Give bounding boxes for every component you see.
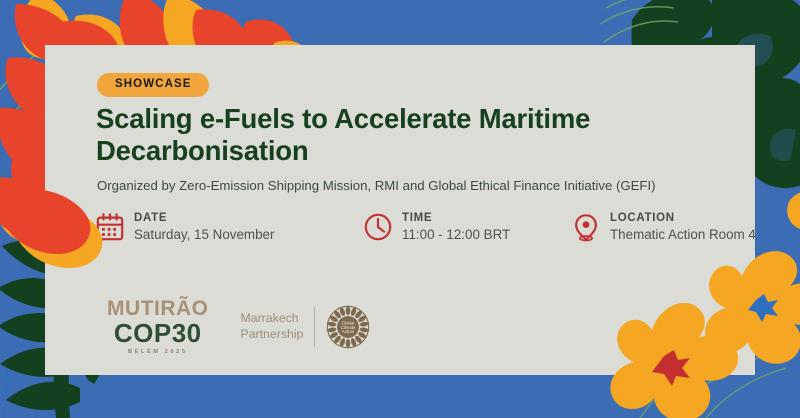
clock-icon bbox=[363, 211, 393, 243]
cop30-belem-text: BELÉM 2025 bbox=[107, 350, 209, 356]
event-details-row: DATE Saturday, 15 November TIME 11:00 - … bbox=[95, 209, 745, 259]
marrakech-line-1: Marrakech bbox=[241, 311, 304, 326]
seal-line-3: Action bbox=[342, 329, 355, 334]
global-climate-action-seal: Global Climate Action bbox=[326, 305, 370, 349]
detail-label-location: LOCATION bbox=[610, 211, 756, 225]
detail-location: LOCATION Thematic Action Room 4 bbox=[571, 209, 756, 244]
detail-value-location: Thematic Action Room 4 bbox=[610, 226, 756, 244]
title-line-2: Decarbonisation bbox=[96, 135, 726, 167]
detail-value-time: 11:00 - 12:00 BRT bbox=[402, 226, 510, 244]
marrakech-line-2: Partnership bbox=[241, 327, 304, 342]
detail-date: DATE Saturday, 15 November bbox=[95, 209, 274, 244]
title-line-1: Scaling e-Fuels to Accelerate Maritime bbox=[96, 103, 726, 135]
marrakech-partnership-logo: Marrakech Partnership bbox=[227, 305, 371, 349]
calendar-icon bbox=[95, 211, 125, 243]
detail-label-time: TIME bbox=[402, 211, 510, 225]
logo-divider bbox=[314, 307, 315, 347]
page-title: Scaling e-Fuels to Accelerate Maritime D… bbox=[96, 103, 726, 167]
flower-edge-right bbox=[787, 190, 800, 230]
logo-strip: MUTIRÃO COP30 BELÉM 2025 Marrakech Partn… bbox=[107, 298, 370, 356]
location-pin-icon bbox=[571, 211, 601, 243]
cop30-text: COP30 bbox=[107, 320, 209, 346]
organizers-text: Organized by Zero-Emission Shipping Miss… bbox=[97, 177, 757, 194]
detail-value-date: Saturday, 15 November bbox=[134, 226, 274, 244]
marrakech-partnership-text: Marrakech Partnership bbox=[241, 311, 304, 342]
cop30-logo: MUTIRÃO COP30 BELÉM 2025 bbox=[107, 298, 209, 356]
event-card: SHOWCASE Scaling e-Fuels to Accelerate M… bbox=[45, 45, 755, 375]
detail-time: TIME 11:00 - 12:00 BRT bbox=[363, 209, 510, 244]
detail-label-date: DATE bbox=[134, 211, 274, 225]
cop30-mutirao-text: MUTIRÃO bbox=[107, 298, 209, 319]
showcase-badge: SHOWCASE bbox=[97, 73, 209, 97]
event-banner: SHOWCASE Scaling e-Fuels to Accelerate M… bbox=[0, 0, 800, 418]
